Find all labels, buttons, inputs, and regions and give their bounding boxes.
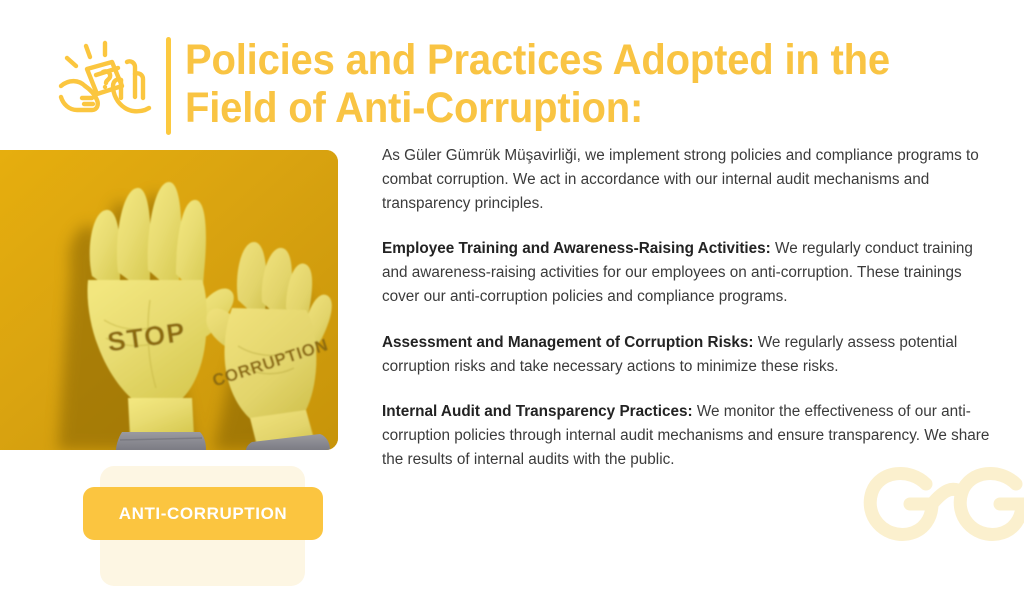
title-divider [166,37,171,135]
bribe-hand-money-icon [55,40,155,132]
anti-corruption-badge-button[interactable]: ANTI-CORRUPTION [83,487,323,540]
paragraph-4-lead: Internal Audit and Transparency Practice… [382,403,693,420]
paragraph-3: Assessment and Management of Corruption … [382,331,990,379]
stop-corruption-photo: STOP CORRUPTION [0,150,338,450]
article-body: As Güler Gümrük Müşavirliği, we implemen… [382,144,990,472]
page-header: Policies and Practices Adopted in the Fi… [0,0,1024,148]
paragraph-1-text: As Güler Gümrük Müşavirliği, we implemen… [382,147,979,212]
paragraph-2-lead: Employee Training and Awareness-Raising … [382,240,771,257]
page-title: Policies and Practices Adopted in the Fi… [185,36,938,132]
badge-label: ANTI-CORRUPTION [119,504,288,524]
paragraph-3-lead: Assessment and Management of Corruption … [382,334,753,351]
paragraph-4: Internal Audit and Transparency Practice… [382,400,990,471]
paragraph-1: As Güler Gümrük Müşavirliği, we implemen… [382,144,990,215]
paragraph-2: Employee Training and Awareness-Raising … [382,237,990,308]
